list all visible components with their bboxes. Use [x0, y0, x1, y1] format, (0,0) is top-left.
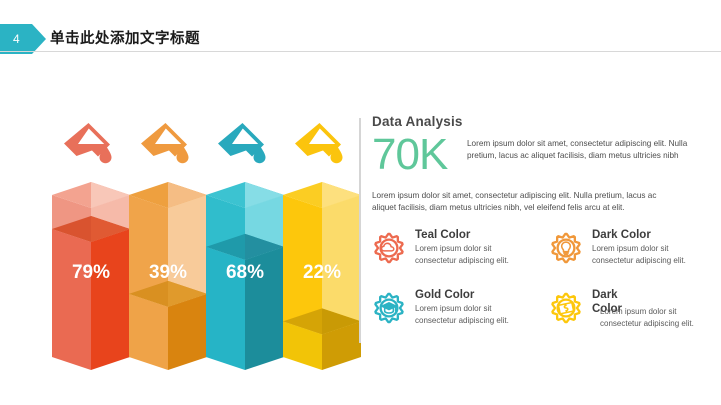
bar-column[interactable]: 22% [283, 120, 361, 370]
hero-stat: 70K Lorem ipsum dolor sit amet, consecte… [372, 135, 702, 181]
feature-grid: Teal ColorLorem ipsum dolor sit consecte… [371, 228, 701, 348]
feature-title: Dark Color [592, 228, 720, 242]
feature-item[interactable]: Gold ColorLorem ipsum dolor sit consecte… [371, 288, 543, 342]
paint-bucket-icon [212, 120, 274, 168]
feature-title: Teal Color [415, 228, 543, 242]
feature-description: Lorem ipsum dolor sit consectetur adipis… [592, 243, 710, 266]
bar-column[interactable]: 68% [206, 120, 284, 370]
gear-money-icon [548, 290, 584, 326]
feature-description: Lorem ipsum dolor sit consectetur adipis… [415, 303, 533, 326]
paint-bucket-icon [135, 120, 197, 168]
slide-number: 4 [0, 24, 20, 54]
bar-prism[interactable] [52, 182, 130, 370]
bar-chart: 79%39%68%22% [0, 120, 355, 370]
gear-lightbulb-icon [548, 230, 584, 266]
slide-number-badge: 4 [0, 24, 46, 54]
paint-bucket-icon [289, 120, 351, 168]
hero-number: 70K [372, 131, 447, 179]
panel-title: Data Analysis [372, 114, 702, 129]
gear-graduation-cap-icon [371, 290, 407, 326]
bar-column[interactable]: 39% [129, 120, 207, 370]
page-title: 单击此处添加文字标题 [50, 27, 200, 48]
feature-title: Gold Color [415, 288, 543, 302]
bar-prism[interactable] [206, 182, 284, 370]
paint-bucket-icon [58, 120, 120, 168]
vertical-divider [359, 118, 361, 343]
hero-description: Lorem ipsum dolor sit amet, consectetur … [467, 138, 689, 162]
bar-column[interactable]: 79% [52, 120, 130, 370]
bar-prism[interactable] [129, 182, 207, 370]
page-header: 4 单击此处添加文字标题 [0, 24, 721, 58]
feature-description: Lorem ipsum dolor sit consectetur adipis… [600, 306, 712, 329]
gear-cloud-icon [371, 230, 407, 266]
bar-prism[interactable] [283, 182, 361, 370]
header-divider [0, 51, 721, 52]
data-analysis-panel: Data Analysis 70K Lorem ipsum dolor sit … [372, 114, 702, 215]
feature-item[interactable]: Dark ColorLorem ipsum dolor sit consecte… [548, 288, 720, 342]
panel-body-text: Lorem ipsum dolor sit amet, consectetur … [372, 190, 672, 215]
feature-item[interactable]: Dark ColorLorem ipsum dolor sit consecte… [548, 228, 720, 282]
feature-description: Lorem ipsum dolor sit consectetur adipis… [415, 243, 533, 266]
feature-item[interactable]: Teal ColorLorem ipsum dolor sit consecte… [371, 228, 543, 282]
